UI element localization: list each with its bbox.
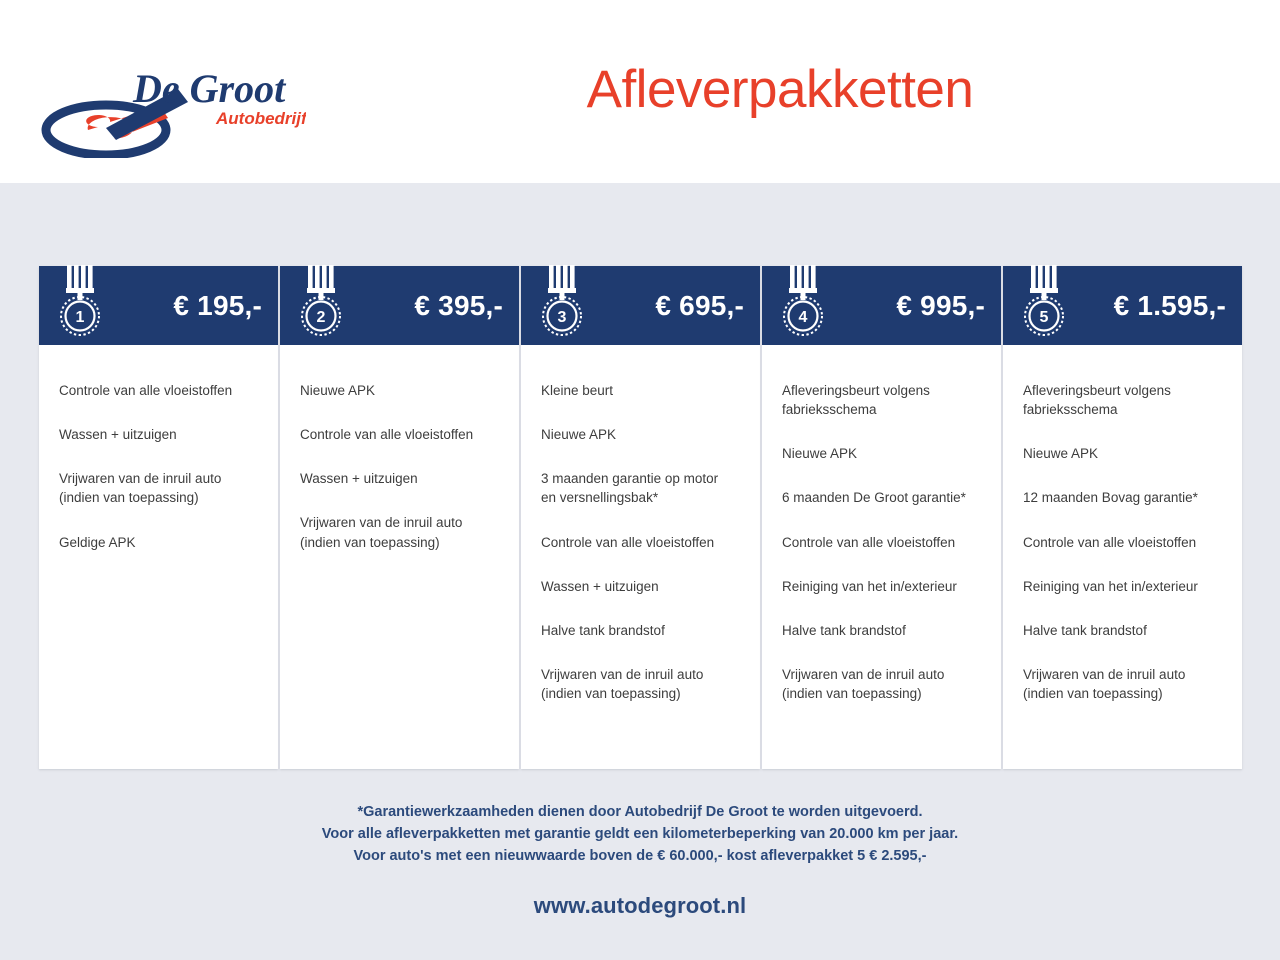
- feature-line-2: fabrieksschema: [782, 400, 981, 419]
- feature-line-1: 12 maanden Bovag garantie*: [1023, 490, 1198, 505]
- feature-line-1: Vrijwaren van de inruil auto: [782, 667, 944, 682]
- feature-line-1: Controle van alle vloeistoffen: [1023, 535, 1196, 550]
- medal-number: 2: [317, 309, 326, 326]
- feature-item: Nieuwe APK: [1023, 444, 1222, 463]
- feature-item: Wassen + uitzuigen: [541, 577, 740, 596]
- medal-icon: 2: [298, 261, 344, 339]
- package-card-1-body: Controle van alle vloeistoffen Wassen + …: [39, 345, 278, 769]
- feature-item: Geldige APK: [59, 533, 258, 552]
- feature-line-1: Controle van alle vloeistoffen: [300, 427, 473, 442]
- feature-line-1: Halve tank brandstof: [1023, 623, 1147, 638]
- feature-line-1: Geldige APK: [59, 535, 136, 550]
- feature-item: Controle van alle vloeistoffen: [1023, 533, 1222, 552]
- feature-line-1: Halve tank brandstof: [782, 623, 906, 638]
- feature-line-1: Controle van alle vloeistoffen: [782, 535, 955, 550]
- feature-item: 3 maanden garantie op motor en versnelli…: [541, 469, 740, 507]
- feature-line-1: Vrijwaren van de inruil auto: [59, 471, 221, 486]
- feature-item: 12 maanden Bovag garantie*: [1023, 488, 1222, 507]
- feature-line-2: (indien van toepassing): [541, 684, 740, 703]
- feature-item: Halve tank brandstof: [541, 621, 740, 640]
- package-price: € 1.595,-: [1114, 290, 1226, 322]
- svg-text:Autobedrijf: Autobedrijf: [215, 109, 306, 128]
- package-card-2[interactable]: 2 € 395,- Nieuwe APK Controle van alle v…: [280, 266, 519, 769]
- package-price: € 395,-: [414, 290, 503, 322]
- feature-line-1: Afleveringsbeurt volgens: [782, 383, 930, 398]
- footnote-line-1: *Garantiewerkzaamheden dienen door Autob…: [0, 801, 1280, 823]
- package-card-5[interactable]: 5 € 1.595,- Afleveringsbeurt volgens fab…: [1003, 266, 1242, 769]
- package-card-3[interactable]: 3 € 695,- Kleine beurt Nieuwe APK 3 maan…: [521, 266, 760, 769]
- package-card-2-header: 2 € 395,-: [280, 266, 519, 345]
- feature-item: Controle van alle vloeistoffen: [59, 381, 258, 400]
- feature-item: Controle van alle vloeistoffen: [541, 533, 740, 552]
- feature-item: Vrijwaren van de inruil auto (indien van…: [300, 513, 499, 551]
- feature-item: Kleine beurt: [541, 381, 740, 400]
- feature-line-1: Nieuwe APK: [782, 446, 857, 461]
- website-link[interactable]: www.autodegroot.nl: [0, 893, 1280, 919]
- medal-icon: 3: [539, 261, 585, 339]
- feature-line-1: Wassen + uitzuigen: [541, 579, 659, 594]
- feature-item: Reiniging van het in/exterieur: [782, 577, 981, 596]
- package-card-grid: 1 € 195,- Controle van alle vloeistoffen…: [39, 266, 1242, 769]
- footnote-line-3: Voor auto's met een nieuwwaarde boven de…: [0, 845, 1280, 867]
- feature-line-1: Nieuwe APK: [300, 383, 375, 398]
- feature-line-1: Halve tank brandstof: [541, 623, 665, 638]
- package-card-3-body: Kleine beurt Nieuwe APK 3 maanden garant…: [521, 345, 760, 769]
- feature-item: Vrijwaren van de inruil auto (indien van…: [782, 665, 981, 703]
- feature-line-2: en versnellingsbak*: [541, 488, 740, 507]
- feature-line-1: 6 maanden De Groot garantie*: [782, 490, 966, 505]
- package-card-1-header: 1 € 195,-: [39, 266, 278, 345]
- feature-line-2: (indien van toepassing): [59, 488, 258, 507]
- package-price: € 695,-: [655, 290, 744, 322]
- feature-item: Reiniging van het in/exterieur: [1023, 577, 1222, 596]
- afleverpakketten-page: De Groot Autobedrijf Afleverpakketten: [0, 0, 1280, 960]
- medal-icon: 4: [780, 261, 826, 339]
- feature-line-2: fabrieksschema: [1023, 400, 1222, 419]
- medal-icon: 1: [57, 261, 103, 339]
- feature-line-1: Wassen + uitzuigen: [59, 427, 177, 442]
- medal-number: 1: [76, 309, 85, 326]
- package-card-5-header: 5 € 1.595,-: [1003, 266, 1242, 345]
- feature-line-2: (indien van toepassing): [300, 533, 499, 552]
- feature-line-1: Vrijwaren van de inruil auto: [300, 515, 462, 530]
- package-card-4[interactable]: 4 € 995,- Afleveringsbeurt volgens fabri…: [762, 266, 1001, 769]
- feature-line-1: Kleine beurt: [541, 383, 613, 398]
- medal-number: 4: [799, 309, 808, 326]
- svg-text:De Groot: De Groot: [132, 66, 287, 111]
- footnotes: *Garantiewerkzaamheden dienen door Autob…: [0, 801, 1280, 867]
- feature-line-1: Controle van alle vloeistoffen: [59, 383, 232, 398]
- feature-item: Nieuwe APK: [782, 444, 981, 463]
- medal-icon: 5: [1021, 261, 1067, 339]
- feature-item: Vrijwaren van de inruil auto (indien van…: [59, 469, 258, 507]
- feature-line-1: Reiniging van het in/exterieur: [1023, 579, 1198, 594]
- feature-item: Wassen + uitzuigen: [300, 469, 499, 488]
- footnote-line-2: Voor alle afleverpakketten met garantie …: [0, 823, 1280, 845]
- medal-number: 3: [558, 309, 567, 326]
- feature-item: Halve tank brandstof: [782, 621, 981, 640]
- feature-line-1: Nieuwe APK: [1023, 446, 1098, 461]
- feature-line-1: Nieuwe APK: [541, 427, 616, 442]
- feature-line-2: (indien van toepassing): [1023, 684, 1222, 703]
- package-price: € 995,-: [896, 290, 985, 322]
- medal-number: 5: [1040, 309, 1049, 326]
- feature-line-2: (indien van toepassing): [782, 684, 981, 703]
- feature-line-1: 3 maanden garantie op motor: [541, 471, 718, 486]
- package-card-1[interactable]: 1 € 195,- Controle van alle vloeistoffen…: [39, 266, 278, 769]
- feature-line-1: Reiniging van het in/exterieur: [782, 579, 957, 594]
- package-price: € 195,-: [173, 290, 262, 322]
- package-card-5-body: Afleveringsbeurt volgens fabrieksschema …: [1003, 345, 1242, 769]
- package-card-3-header: 3 € 695,-: [521, 266, 760, 345]
- feature-item: Nieuwe APK: [541, 425, 740, 444]
- feature-line-1: Controle van alle vloeistoffen: [541, 535, 714, 550]
- page-body: 1 € 195,- Controle van alle vloeistoffen…: [0, 183, 1280, 960]
- feature-item: Controle van alle vloeistoffen: [782, 533, 981, 552]
- package-card-2-body: Nieuwe APK Controle van alle vloeistoffe…: [280, 345, 519, 769]
- feature-line-1: Wassen + uitzuigen: [300, 471, 418, 486]
- feature-item: Wassen + uitzuigen: [59, 425, 258, 444]
- package-card-4-body: Afleveringsbeurt volgens fabrieksschema …: [762, 345, 1001, 769]
- package-card-4-header: 4 € 995,-: [762, 266, 1001, 345]
- page-header: De Groot Autobedrijf Afleverpakketten: [0, 0, 1280, 183]
- page-title: Afleverpakketten: [430, 58, 1130, 122]
- feature-item: Vrijwaren van de inruil auto (indien van…: [1023, 665, 1222, 703]
- feature-item: Controle van alle vloeistoffen: [300, 425, 499, 444]
- feature-line-1: Vrijwaren van de inruil auto: [541, 667, 703, 682]
- feature-line-1: Afleveringsbeurt volgens: [1023, 383, 1171, 398]
- feature-item: 6 maanden De Groot garantie*: [782, 488, 981, 507]
- feature-line-1: Vrijwaren van de inruil auto: [1023, 667, 1185, 682]
- feature-item: Nieuwe APK: [300, 381, 499, 400]
- feature-item: Afleveringsbeurt volgens fabrieksschema: [1023, 381, 1222, 419]
- feature-item: Halve tank brandstof: [1023, 621, 1222, 640]
- feature-item: Afleveringsbeurt volgens fabrieksschema: [782, 381, 981, 419]
- feature-item: Vrijwaren van de inruil auto (indien van…: [541, 665, 740, 703]
- de-groot-autobedrijf-logo: De Groot Autobedrijf: [38, 62, 306, 158]
